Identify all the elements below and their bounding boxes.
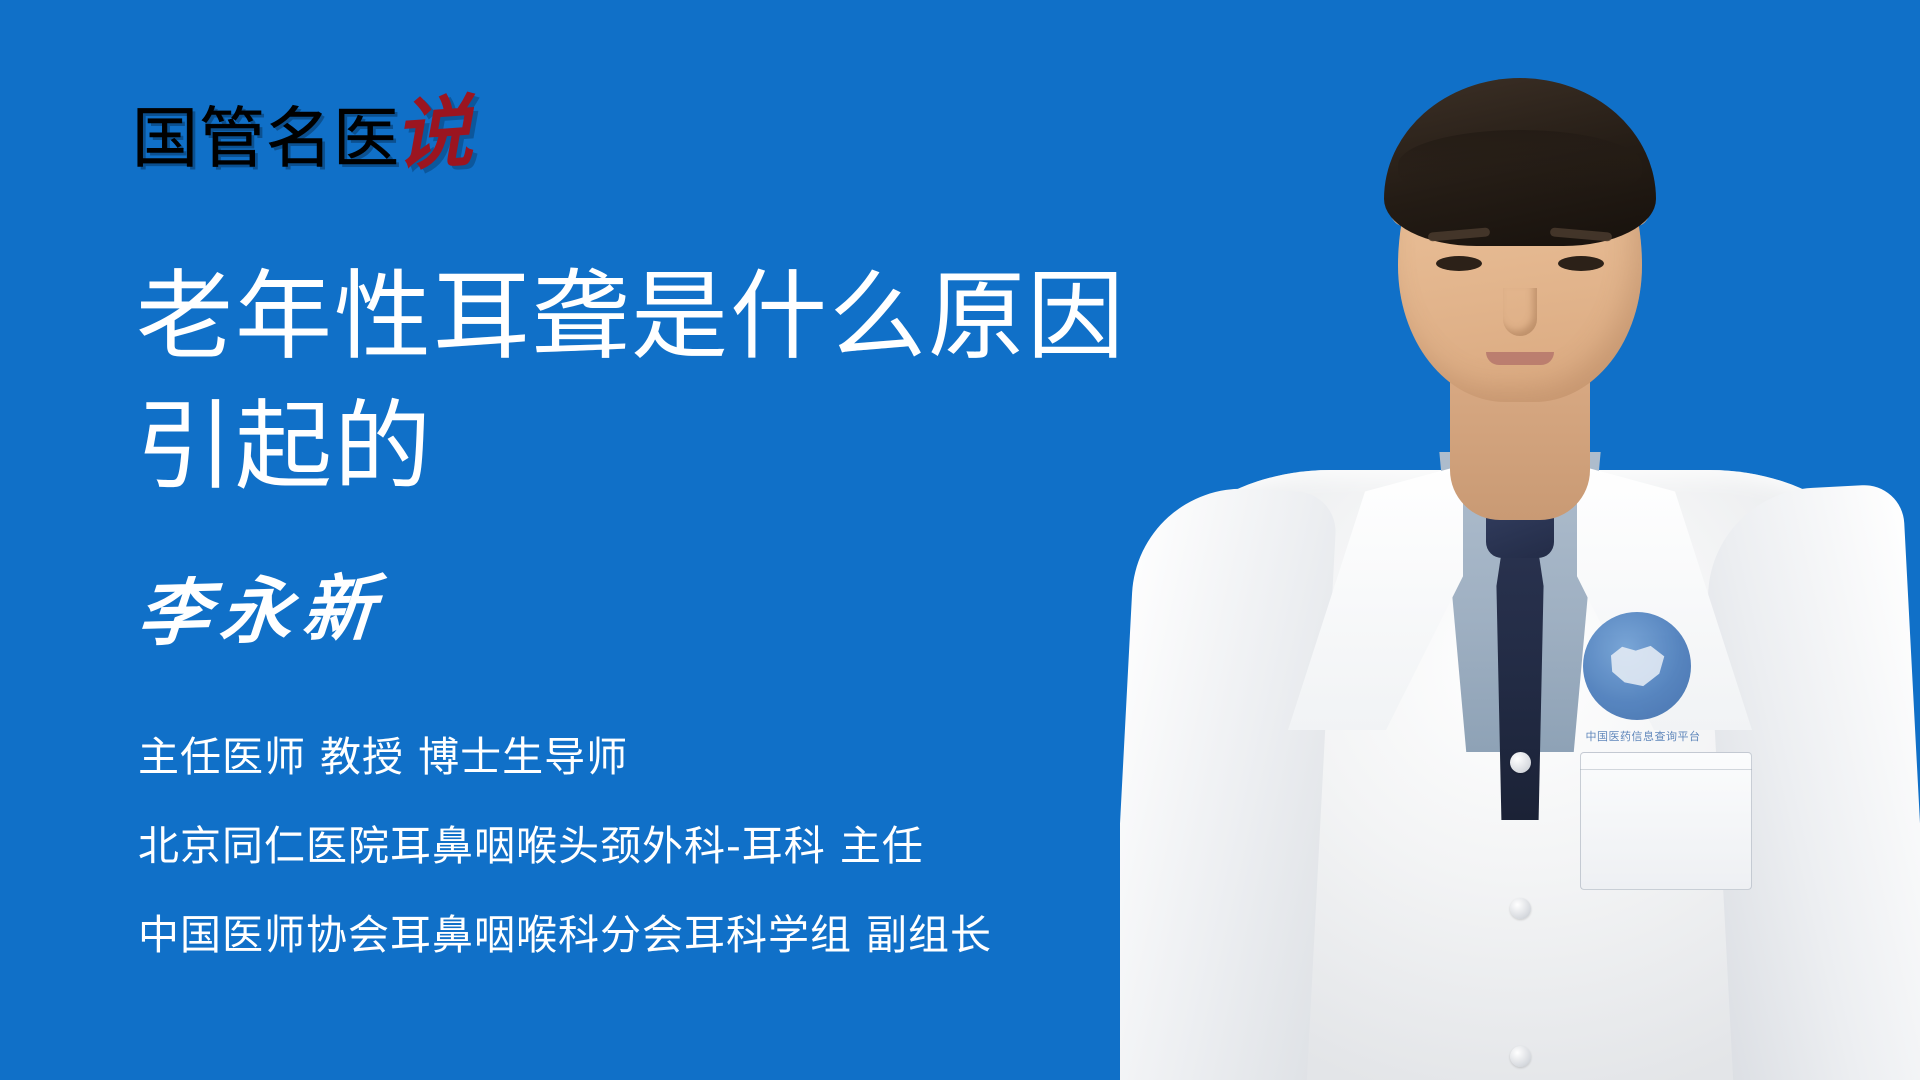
brand-logo-main-text: 国管名医 bbox=[132, 106, 400, 172]
coat-badge-emblem-icon bbox=[1583, 612, 1691, 720]
video-cover-slide: 国管名医 说 老年性耳聋是什么原因 引起的 李永新 主任医师 教授 博士生导师 … bbox=[0, 0, 1920, 1080]
eye-right bbox=[1558, 256, 1604, 271]
doctor-name-signature: 李永新 bbox=[135, 572, 387, 650]
mouth bbox=[1486, 352, 1554, 365]
eye-left bbox=[1436, 256, 1482, 271]
badge-map-icon bbox=[1606, 642, 1668, 690]
lab-coat-pocket bbox=[1580, 752, 1752, 890]
credential-line-2: 北京同仁医院耳鼻咽喉头颈外科-耳科 主任 bbox=[138, 824, 992, 869]
credential-line-1: 主任医师 教授 博士生导师 bbox=[138, 735, 992, 780]
coat-button-2 bbox=[1510, 898, 1531, 919]
coat-button-1 bbox=[1510, 752, 1531, 773]
coat-button-3 bbox=[1510, 1046, 1531, 1067]
credential-line-3: 中国医师协会耳鼻咽喉科分会耳科学组 副组长 bbox=[138, 913, 992, 958]
hair bbox=[1384, 78, 1656, 246]
brand-logo: 国管名医 说 bbox=[132, 96, 472, 174]
brand-logo-accent-text: 说 bbox=[391, 93, 474, 176]
title-line-2: 引起的 bbox=[136, 382, 1156, 512]
page-title: 老年性耳聋是什么原因 引起的 bbox=[136, 252, 1156, 512]
doctor-portrait-photo: 中国医药信息查询平台 bbox=[1120, 0, 1920, 1080]
coat-badge-label: 中国医药信息查询平台 bbox=[1568, 728, 1718, 744]
nose bbox=[1503, 288, 1537, 336]
title-line-1: 老年性耳聋是什么原因 bbox=[136, 252, 1156, 382]
doctor-credentials: 主任医师 教授 博士生导师 北京同仁医院耳鼻咽喉头颈外科-耳科 主任 中国医师协… bbox=[138, 735, 992, 958]
